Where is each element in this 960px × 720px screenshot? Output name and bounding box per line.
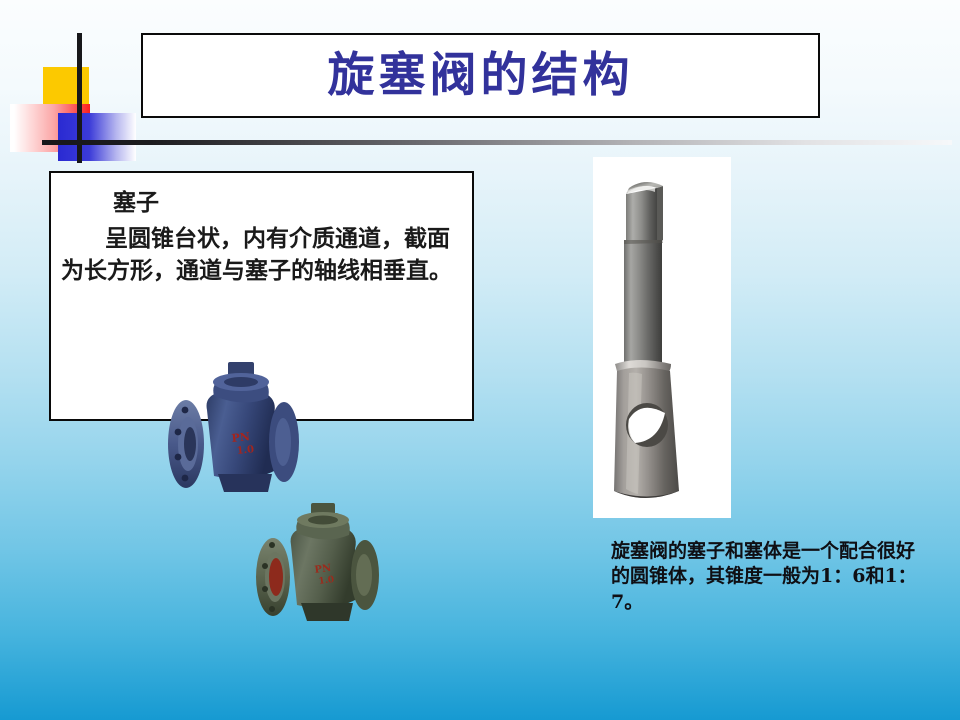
description-paragraph: 呈圆锥台状，内有介质通道，截面为长方形，通道与塞子的轴线相垂直。 <box>61 223 456 288</box>
title-box: 旋塞阀的结构 <box>141 33 820 118</box>
green-plug-valve-photo: PN 1.0 <box>243 503 395 637</box>
plug-caption: 旋塞阀的塞子和塞体是一个配合很好的圆锥体，其锥度一般为1：6和1：7。 <box>611 539 921 615</box>
tapered-plug-illustration <box>593 157 731 518</box>
green-valve-illustration: PN 1.0 <box>243 503 395 637</box>
blue-valve-illustration: PN 1.0 <box>152 358 327 513</box>
tapered-plug-photo <box>593 157 731 518</box>
page-title: 旋塞阀的结构 <box>328 52 634 99</box>
blue-gradient-rectangle <box>58 113 136 161</box>
svg-text:1.0: 1.0 <box>236 444 254 457</box>
blue-plug-valve-photo: PN 1.0 <box>152 358 327 513</box>
svg-text:PN: PN <box>231 430 251 445</box>
slide-canvas: 旋塞阀的结构 塞子 呈圆锥台状，内有介质通道，截面为长方形，通道与塞子的轴线相垂… <box>0 0 960 720</box>
svg-text:PN: PN <box>314 563 332 576</box>
horizontal-rule <box>42 140 952 145</box>
description-heading: 塞子 <box>113 189 456 217</box>
